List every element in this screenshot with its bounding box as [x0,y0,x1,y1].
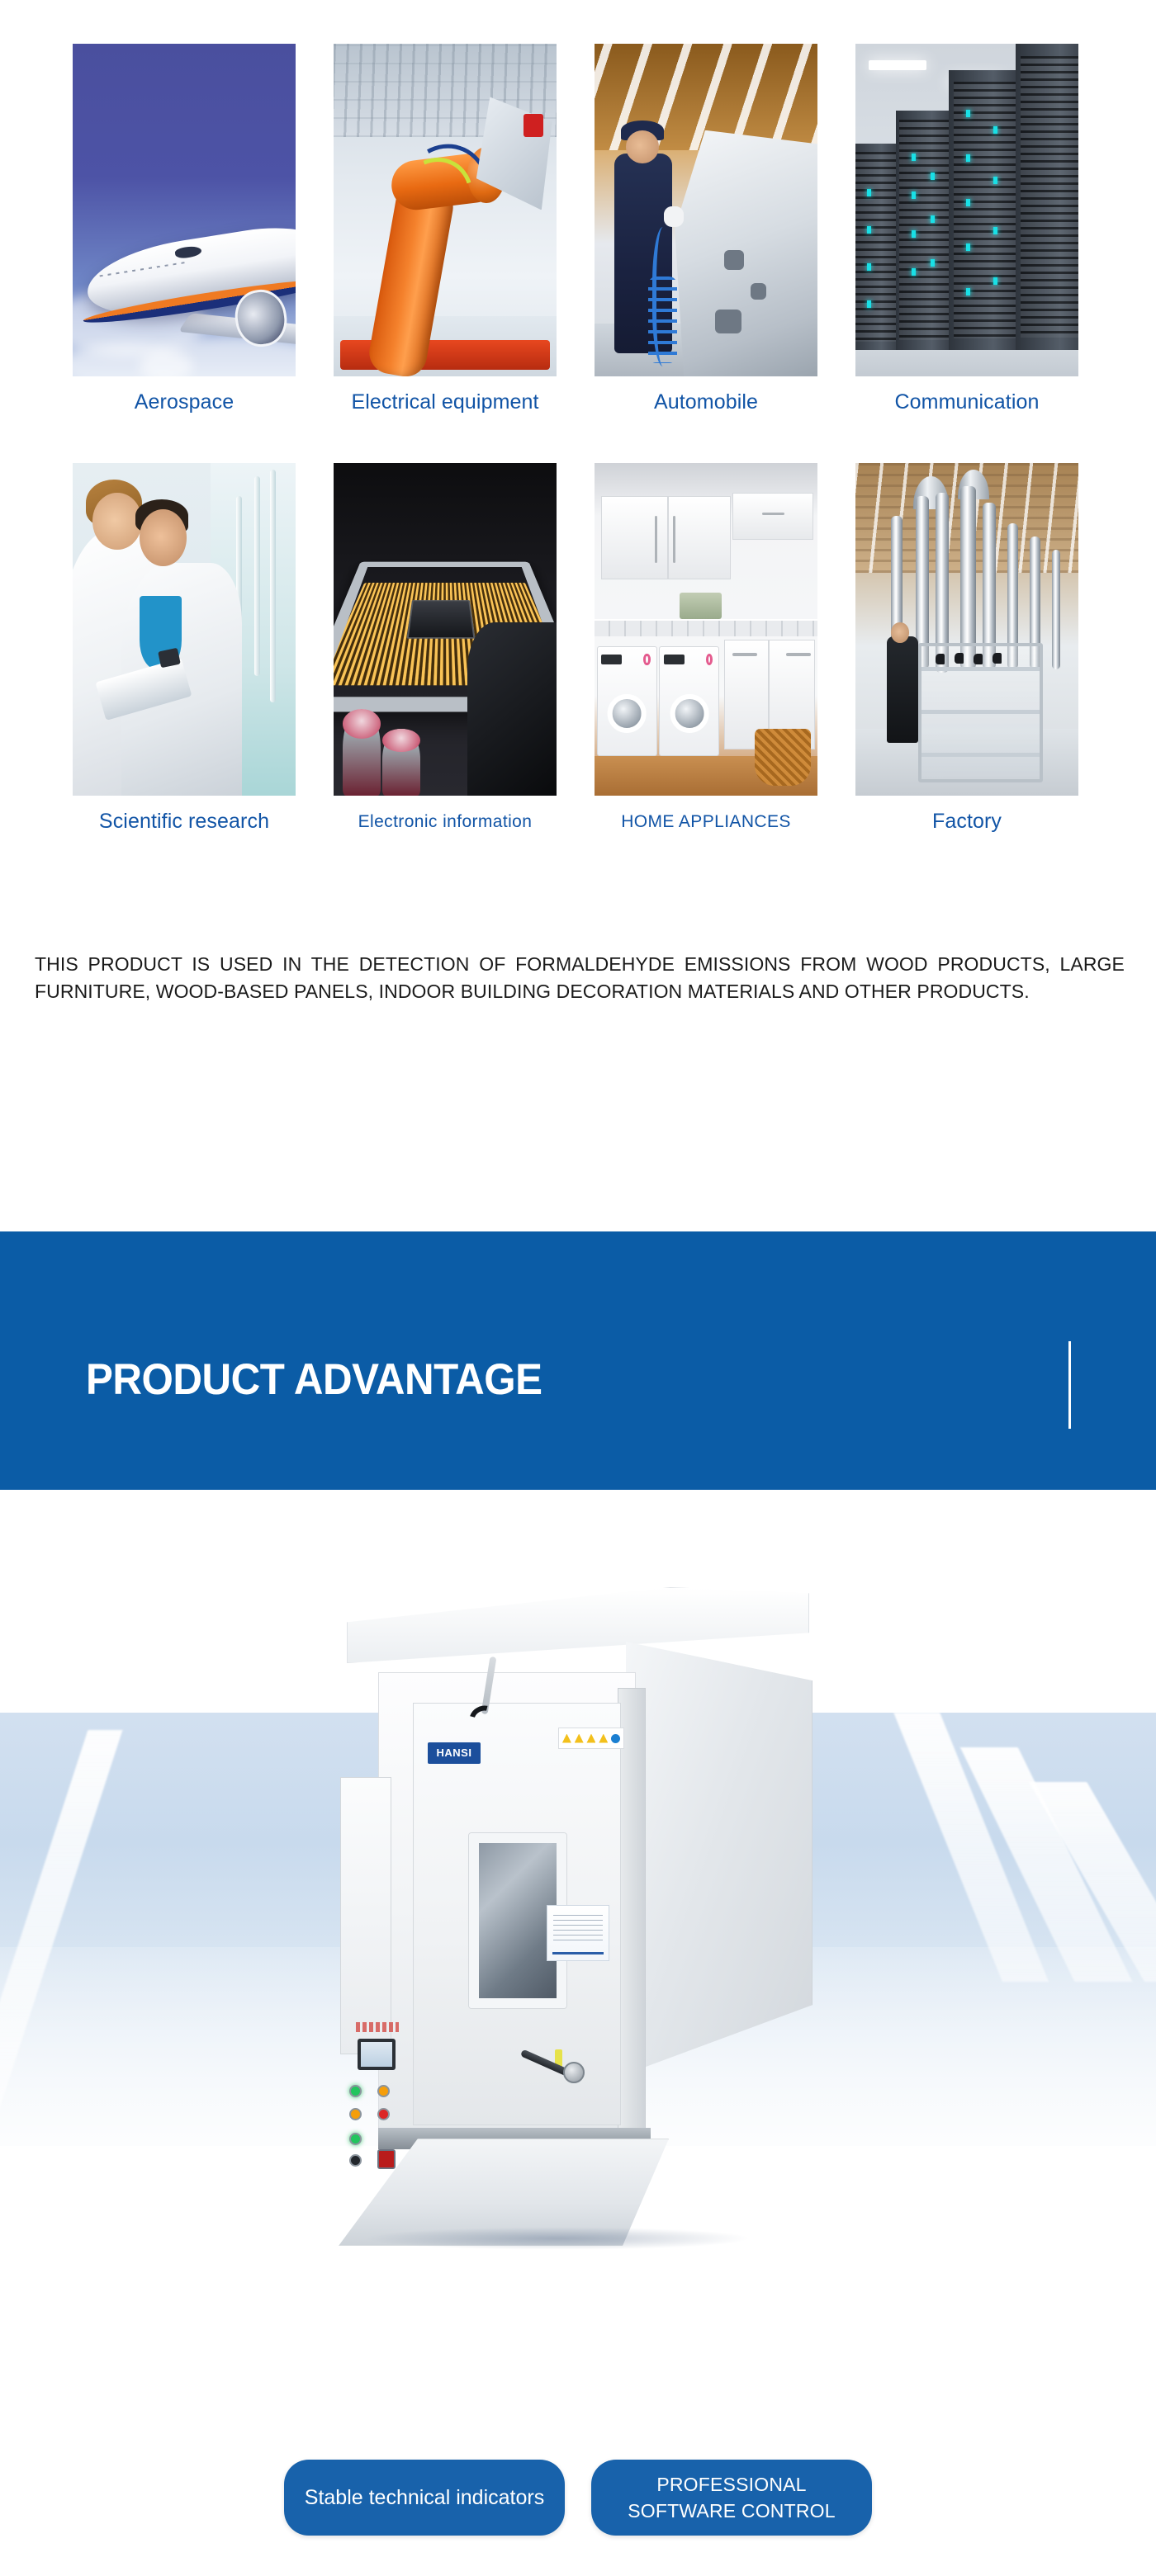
scientific-research-image [73,463,296,796]
product-showcase: HANSI [0,1490,1156,2439]
banner-title: PRODUCT ADVANTAGE [86,1354,542,1405]
application-card-aerospace[interactable]: Aerospace [73,44,296,415]
hmi-touchscreen[interactable] [358,2039,396,2070]
application-label: Electronic information [334,796,557,834]
warning-label-strip [558,1728,624,1749]
application-card-scientific-research[interactable]: Scientific research [73,463,296,834]
application-label: Factory [855,796,1078,834]
power-button[interactable] [349,2154,362,2167]
application-card-factory[interactable]: Factory [855,463,1078,834]
indicator-amber[interactable] [377,2085,390,2097]
indicator-amber-2[interactable] [349,2108,362,2120]
indicator-green-2[interactable] [349,2133,362,2145]
advantage-pill-row: Stable technical indicators PROFESSIONAL… [0,2460,1156,2536]
application-fields-section: Aerospace Electrical equipment [0,0,1156,834]
application-card-automobile[interactable]: Automobile [595,44,817,415]
application-card-electronic-information[interactable]: Electronic information [334,463,557,834]
indicator-green[interactable] [349,2085,362,2097]
application-row-2: Scientific research Electronic informati… [73,463,1078,834]
factory-image [855,463,1078,796]
chamber-info-sticker [547,1905,609,1961]
emergency-stop-button[interactable] [377,2149,396,2169]
product-advantage-banner: PRODUCT ADVANTAGE [0,1231,1156,1490]
application-card-communication[interactable]: Communication [855,44,1078,415]
product-description: THIS PRODUCT IS USED IN THE DETECTION OF… [35,951,1125,1005]
application-label: Scientific research [73,796,296,834]
electrical-equipment-image [334,44,557,376]
home-appliances-image [595,463,817,796]
pill-stable-technical-indicators[interactable]: Stable technical indicators [284,2460,565,2536]
banner-vertical-rule [1068,1341,1071,1429]
electronic-information-image [334,463,557,796]
pill-professional-software-control[interactable]: PROFESSIONAL SOFTWARE CONTROL [591,2460,872,2536]
automobile-image [595,44,817,376]
chamber-control-panel[interactable] [340,1777,391,2054]
application-label: Automobile [595,376,817,415]
application-label: Electrical equipment [334,376,557,415]
brand-logo: HANSI [428,1742,481,1764]
application-label: Communication [855,376,1078,415]
application-row-1: Aerospace Electrical equipment [73,44,1078,415]
application-card-electrical-equipment[interactable]: Electrical equipment [334,44,557,415]
application-label: Aerospace [73,376,296,415]
aerospace-image [73,44,296,376]
indicator-red[interactable] [377,2108,390,2120]
communication-image [855,44,1078,376]
application-label: HOME APPLIANCES [595,796,817,834]
application-card-home-appliances[interactable]: HOME APPLIANCES [595,463,817,834]
chamber-product-image: HANSI [330,1587,875,2264]
